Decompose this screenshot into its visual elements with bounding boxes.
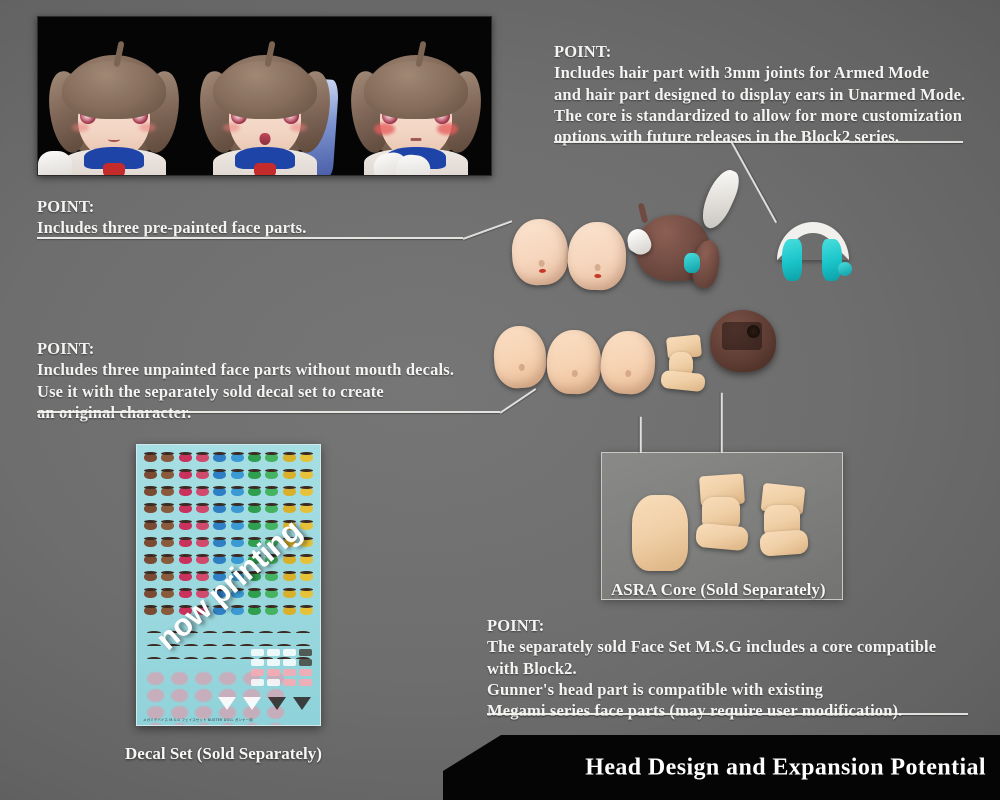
hair-joint-hole — [747, 325, 760, 338]
point-line: Use it with the separately sold decal se… — [37, 381, 454, 402]
eye-decal — [231, 572, 244, 581]
eye-decal — [196, 572, 209, 581]
mouth-decal — [299, 669, 312, 676]
point-line: The core is standardized to allow for mo… — [554, 105, 965, 126]
eyelash-decal — [296, 631, 310, 635]
eye-decal — [179, 572, 192, 581]
eye-decal — [161, 521, 174, 530]
blush-decal — [195, 689, 212, 702]
eye-decal — [144, 589, 157, 598]
blush-left — [374, 123, 395, 135]
eye-decal — [231, 555, 244, 564]
blush-left — [223, 123, 240, 132]
mouth-open — [259, 133, 270, 145]
eye-decal — [144, 487, 157, 496]
eye-decal — [283, 470, 296, 479]
eye-decal — [265, 572, 278, 581]
point-heading: POINT: — [37, 338, 454, 359]
eye-decal — [231, 470, 244, 479]
mouth-smile — [108, 137, 120, 142]
white-hair-tail-part — [696, 165, 745, 232]
eye-decal — [161, 606, 174, 615]
eye-decal — [196, 521, 209, 530]
eye-decal — [144, 453, 157, 462]
unpainted-face-part-2 — [546, 330, 601, 395]
eye-decal — [248, 470, 261, 479]
bangs — [364, 61, 468, 119]
eye-decal — [179, 504, 192, 513]
eye-decal — [161, 538, 174, 547]
asra-core-head-b-bottom — [759, 529, 809, 556]
eye-decal — [248, 538, 261, 547]
eyelash-decal-row — [147, 631, 310, 635]
blush-decal — [195, 723, 212, 726]
eye-decal — [179, 453, 192, 462]
eye-decal — [161, 504, 174, 513]
asra-core-caption: ASRA Core (Sold Separately) — [611, 580, 826, 600]
eyelash-decal — [240, 631, 254, 635]
blush-decal — [243, 723, 260, 726]
eye-decal-row — [144, 538, 313, 547]
eye-decal — [300, 487, 313, 496]
eye-decal-row — [144, 453, 313, 462]
eye-decal-row — [144, 521, 313, 530]
eye-decal — [196, 453, 209, 462]
eye-decal-row — [144, 487, 313, 496]
mouth-decal — [539, 269, 546, 273]
nose-detail — [594, 264, 600, 271]
marking-decal-row — [218, 697, 311, 710]
eye-decal — [231, 589, 244, 598]
eye-decal — [283, 504, 296, 513]
eyelash-decal — [147, 631, 161, 635]
eye-decal — [231, 504, 244, 513]
point-2-underline — [37, 411, 500, 413]
eye-decal — [196, 555, 209, 564]
blush-decal — [147, 672, 164, 685]
bangs — [213, 61, 317, 119]
point-heading: POINT: — [554, 41, 965, 62]
eye-decal — [300, 606, 313, 615]
eye-decal — [248, 589, 261, 598]
core-block-bottom — [660, 370, 706, 393]
eye-decal — [213, 470, 226, 479]
eyelash-decal — [147, 644, 161, 648]
blush-right — [290, 123, 307, 132]
point-4-underline — [487, 713, 968, 715]
eye-decal — [161, 487, 174, 496]
glove-left — [38, 151, 72, 175]
eye-decal — [196, 487, 209, 496]
point-3-underline — [554, 141, 963, 143]
mouth-decal-grid — [251, 649, 312, 686]
blush-decal — [171, 723, 188, 726]
eyelash-decal — [277, 631, 291, 635]
eye-decal — [300, 453, 313, 462]
mouth-decal — [299, 649, 312, 656]
point-line: Megami series face parts (may require us… — [487, 700, 936, 721]
eye-decal — [283, 572, 296, 581]
eye-decal — [161, 589, 174, 598]
eye-decal — [179, 606, 192, 615]
eyelash-decal-row — [147, 644, 310, 648]
eye-decal — [179, 555, 192, 564]
painted-face-part-1 — [510, 218, 569, 287]
eyelash-decal — [166, 631, 180, 635]
eye-decal-row — [144, 555, 313, 564]
mouth-decal — [283, 659, 296, 666]
eye-decal — [231, 521, 244, 530]
cyan-joint-knob — [838, 262, 852, 276]
figure-photo-3 — [340, 17, 491, 175]
mouth-decal — [251, 649, 264, 656]
nose-detail — [572, 370, 578, 377]
eye-decal — [213, 453, 226, 462]
eye-decal-row — [144, 606, 313, 615]
eye-decal — [300, 538, 313, 547]
point-line: with Block2. — [487, 658, 936, 679]
eye-decal — [213, 589, 226, 598]
blush-right — [139, 123, 156, 132]
eye-decal — [265, 555, 278, 564]
eye-decal — [300, 572, 313, 581]
figure-photo-2 — [189, 17, 340, 175]
eye-decal — [248, 453, 261, 462]
blush-decal — [147, 723, 164, 726]
eyelash-decal — [259, 644, 273, 648]
eye-decal — [300, 470, 313, 479]
eye-decal — [213, 504, 226, 513]
blush-decal — [195, 672, 212, 685]
figure-photo-strip — [37, 16, 492, 176]
eye-decal-row — [144, 470, 313, 479]
point-hair-joints: POINT: Includes hair part with 3mm joint… — [554, 41, 965, 148]
point-line: options with future releases in the Bloc… — [554, 126, 965, 147]
eye-decal — [248, 606, 261, 615]
mouth-flat — [410, 138, 421, 141]
blush-decal — [219, 672, 236, 685]
eye-decal — [283, 453, 296, 462]
cyan-ear-right — [822, 239, 842, 281]
eyelash-decal — [277, 644, 291, 648]
eye-decal — [248, 504, 261, 513]
point-line: Includes three pre-painted face parts. — [37, 217, 307, 238]
eye-decal — [265, 487, 278, 496]
eye-decal — [213, 606, 226, 615]
triangle-marking — [268, 697, 286, 710]
blush-decal — [171, 672, 188, 685]
eye-decal — [213, 521, 226, 530]
eyelash-decal — [147, 657, 161, 661]
eye-decal — [196, 470, 209, 479]
eye-decal — [231, 453, 244, 462]
eye-decal-row — [144, 504, 313, 513]
eyelash-decal — [296, 644, 310, 648]
eye-decal — [179, 538, 192, 547]
point-1-leader-line — [463, 220, 512, 239]
eye-decal — [300, 521, 313, 530]
eye-decal — [196, 606, 209, 615]
now-printing-watermark: now printing — [149, 512, 308, 657]
figure-photo-1 — [38, 17, 189, 175]
eye-decal — [161, 470, 174, 479]
eye-decal — [196, 538, 209, 547]
eye-decal — [265, 504, 278, 513]
banner-title: Head Design and Expansion Potential — [585, 754, 986, 781]
red-scarf — [254, 163, 276, 175]
eye-decal — [231, 606, 244, 615]
anime-head-open-mouth — [205, 33, 325, 175]
eye-decal — [213, 487, 226, 496]
eye-decal — [179, 589, 192, 598]
eye-decal — [300, 555, 313, 564]
eye-decal — [265, 453, 278, 462]
mouth-decal — [251, 659, 264, 666]
mouth-decal — [251, 669, 264, 676]
eye-decal — [283, 589, 296, 598]
eyelash-decal — [166, 657, 180, 661]
eye-decal — [161, 572, 174, 581]
point-line: and hair part designed to display ears i… — [554, 84, 965, 105]
eye-decal — [144, 538, 157, 547]
point-line: Includes three unpainted face parts with… — [37, 359, 454, 380]
mouth-decal — [267, 659, 280, 666]
eye-decal — [283, 555, 296, 564]
mouth-decal — [267, 679, 280, 686]
point-line: an original character. — [37, 402, 454, 423]
blush-decal-row — [147, 723, 284, 726]
blush-left — [72, 123, 89, 132]
point-1-underline — [37, 237, 463, 239]
blush-decal — [147, 689, 164, 702]
eye-decal — [213, 555, 226, 564]
eyelash-decal — [240, 644, 254, 648]
unpainted-face-part-3 — [599, 329, 657, 396]
eye-decal — [248, 487, 261, 496]
painted-face-part-2 — [567, 221, 627, 291]
mouth-decal — [594, 274, 601, 278]
promo-page: ASRA Core (Sold Separately) — [0, 0, 1000, 800]
eye-decal — [144, 572, 157, 581]
eyelash-decal — [203, 644, 217, 648]
nose-detail — [518, 364, 524, 371]
blush-decal — [171, 689, 188, 702]
mouth-decal — [283, 679, 296, 686]
eye-decal — [265, 470, 278, 479]
triangle-marking — [293, 697, 311, 710]
section-banner: Head Design and Expansion Potential — [443, 735, 1000, 800]
eye-decal — [179, 521, 192, 530]
eye-decal — [248, 572, 261, 581]
blush-decal — [267, 723, 284, 726]
eye-decal — [161, 453, 174, 462]
mouth-decal — [267, 669, 280, 676]
blush-decal — [219, 723, 236, 726]
eye-decal — [179, 487, 192, 496]
eye-decal — [144, 555, 157, 564]
eye-decal — [213, 572, 226, 581]
point-2-leader-line — [500, 388, 536, 413]
eyelash-decal — [184, 657, 198, 661]
point-pre-painted-faces: POINT: Includes three pre-painted face p… — [37, 196, 307, 239]
eyelash-decal — [259, 631, 273, 635]
eyelash-decal — [222, 644, 236, 648]
mouth-decal — [283, 649, 296, 656]
asra-core-head-a-bottom — [695, 523, 749, 551]
point-heading: POINT: — [487, 615, 936, 636]
red-scarf — [103, 163, 125, 175]
eye-decal — [144, 606, 157, 615]
anime-head-smile — [54, 33, 174, 175]
nose-detail — [625, 370, 631, 377]
ahoge-part — [638, 203, 649, 224]
mouth-decal — [283, 669, 296, 676]
point-face-set-msg: POINT: The separately sold Face Set M.S.… — [487, 615, 936, 722]
eye-decal — [196, 504, 209, 513]
point-line: The separately sold Face Set M.S.G inclu… — [487, 636, 936, 657]
mouth-decal — [299, 659, 312, 666]
eye-decal — [231, 487, 244, 496]
eyelash-decal — [166, 644, 180, 648]
eye-decal — [283, 521, 296, 530]
asra-core-box — [601, 452, 843, 600]
nose-detail — [538, 260, 544, 267]
eye-decal — [144, 470, 157, 479]
point-line: Includes hair part with 3mm joints for A… — [554, 62, 965, 83]
cyan-ear-left — [782, 239, 802, 281]
eyelash-decal — [184, 644, 198, 648]
eyelash-decal — [222, 657, 236, 661]
mouth-decal — [299, 679, 312, 686]
eye-decal — [265, 589, 278, 598]
anime-head-blush — [356, 33, 476, 175]
eye-decal — [213, 538, 226, 547]
eye-decal — [144, 504, 157, 513]
eye-decal — [196, 589, 209, 598]
eyelash-decal — [203, 631, 217, 635]
eye-decal — [161, 555, 174, 564]
eye-decal — [265, 606, 278, 615]
eye-decal — [265, 538, 278, 547]
decal-set-caption: Decal Set (Sold Separately) — [125, 744, 322, 764]
point-line: Gunner's head part is compatible with ex… — [487, 679, 936, 700]
asra-core-faceplate — [632, 495, 688, 571]
eyelash-decal — [203, 657, 217, 661]
eye-decal — [248, 521, 261, 530]
decal-sheet: now printing メガミデバイス M.S.G フェイスセット BUSTE… — [136, 444, 321, 726]
eyelash-decal — [222, 631, 236, 635]
eye-decal — [144, 521, 157, 530]
eye-decal — [300, 504, 313, 513]
mouth-decal — [267, 649, 280, 656]
eye-decal — [248, 555, 261, 564]
mouth-decal — [251, 679, 264, 686]
core-leader-line — [721, 393, 723, 453]
cyan-ear-part — [684, 253, 700, 273]
eye-decal-row — [144, 572, 313, 581]
eye-decal — [300, 589, 313, 598]
decal-sheet-footer-text: メガミデバイス M.S.G フェイスセット BUSTER DOLL ガンナー用 — [143, 717, 253, 722]
eye-decal-row — [144, 589, 313, 598]
faceplate-leader-line — [640, 417, 642, 453]
eye-decal — [283, 487, 296, 496]
unpainted-face-part-1 — [492, 324, 548, 389]
eye-decal — [283, 606, 296, 615]
blush-right — [437, 123, 458, 135]
eye-decal — [231, 538, 244, 547]
eye-decal — [179, 470, 192, 479]
eye-decal — [265, 521, 278, 530]
eye-decal — [283, 538, 296, 547]
triangle-marking — [218, 697, 236, 710]
eyelash-decal — [184, 631, 198, 635]
bangs — [62, 61, 166, 119]
point-heading: POINT: — [37, 196, 307, 217]
triangle-marking — [243, 697, 261, 710]
